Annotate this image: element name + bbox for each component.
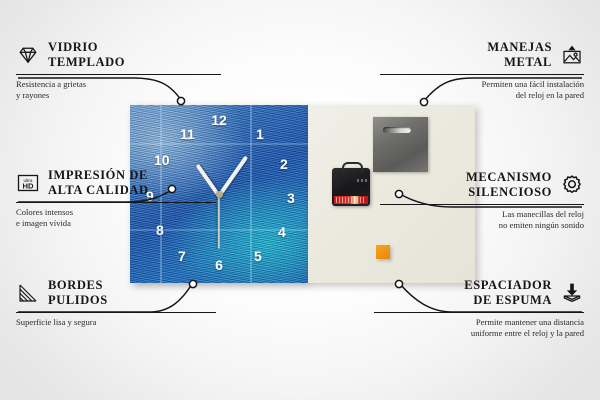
infographic-canvas: 12 1 2 3 4 5 6 7 8 9 10 11	[0, 0, 600, 400]
diamond-icon	[16, 43, 40, 67]
callout-header: MECANISMO SILENCIOSO	[380, 170, 584, 201]
clock-number-6: 6	[215, 258, 223, 272]
callout-mecanismo-silencioso: MECANISMO SILENCIOSO Las manecillas del …	[380, 170, 584, 232]
metal-hanger-bracket	[373, 117, 428, 172]
callout-divider	[380, 74, 584, 75]
mechanism-vents	[357, 179, 367, 182]
silent-clock-mechanism	[332, 168, 370, 206]
callout-impresion-alta-calidad: ultra HD IMPRESIÓN DE ALTA CALIDAD Color…	[16, 168, 216, 230]
callout-vidrio-templado: VIDRIO TEMPLADO Resistencia a grietas y …	[16, 40, 221, 102]
callout-header: VIDRIO TEMPLADO	[16, 40, 221, 71]
callout-description: Colores intensos e imagen vívida	[16, 207, 216, 230]
callout-description: Permite mantener una distancia uniforme …	[374, 317, 584, 340]
callout-header: ESPACIADOR DE ESPUMA	[374, 278, 584, 309]
callout-header: ultra HD IMPRESIÓN DE ALTA CALIDAD	[16, 168, 216, 199]
foam-spacer	[376, 245, 390, 259]
clock-number-11: 11	[180, 127, 195, 141]
callout-divider	[16, 312, 216, 313]
clock-minute-hand	[217, 156, 248, 198]
callout-divider	[374, 312, 584, 313]
callout-title: MANEJAS METAL	[487, 40, 552, 71]
callout-title: MECANISMO SILENCIOSO	[466, 170, 552, 201]
callout-description: Resistencia a grietas y rayones	[16, 79, 221, 102]
ultra-hd-icon: ultra HD	[16, 171, 40, 195]
callout-title: ESPACIADOR DE ESPUMA	[464, 278, 552, 309]
clock-number-5: 5	[254, 249, 262, 263]
polished-edges-icon	[16, 281, 40, 305]
clock-center-pin	[216, 191, 223, 198]
callout-description: Superficie lisa y segura	[16, 317, 216, 329]
clock-number-4: 4	[278, 225, 286, 239]
clock-number-10: 10	[154, 153, 170, 167]
gear-icon	[560, 173, 584, 197]
clock-number-3: 3	[287, 191, 295, 205]
callout-manejas-metal: MANEJAS METAL Permiten una fácil instala…	[380, 40, 584, 102]
callout-header: MANEJAS METAL	[380, 40, 584, 71]
clock-number-1: 1	[256, 127, 264, 141]
callout-description: Las manecillas del reloj no emiten ningú…	[380, 209, 584, 232]
hanger-keyhole-slot	[383, 127, 411, 133]
picture-hanger-icon	[560, 43, 584, 67]
foam-spacer-icon	[560, 281, 584, 305]
clock-number-12: 12	[211, 113, 227, 127]
callout-title: VIDRIO TEMPLADO	[48, 40, 125, 71]
clock-number-7: 7	[178, 249, 186, 263]
callout-title: IMPRESIÓN DE ALTA CALIDAD	[48, 168, 149, 199]
mechanism-label	[334, 196, 368, 204]
clock-second-hand	[218, 195, 220, 249]
callout-description: Permiten una fácil instalación del reloj…	[380, 79, 584, 102]
callout-bordes-pulidos: BORDES PULIDOS Superficie lisa y segura	[16, 278, 216, 328]
callout-espaciador-espuma: ESPACIADOR DE ESPUMA Permite mantener un…	[374, 278, 584, 340]
clock-number-2: 2	[280, 157, 288, 171]
callout-divider	[16, 74, 221, 75]
svg-text:HD: HD	[23, 182, 34, 191]
callout-divider	[380, 204, 584, 205]
callout-header: BORDES PULIDOS	[16, 278, 216, 309]
callout-divider	[16, 202, 216, 203]
mechanism-hook-loop	[342, 162, 363, 173]
callout-title: BORDES PULIDOS	[48, 278, 108, 309]
